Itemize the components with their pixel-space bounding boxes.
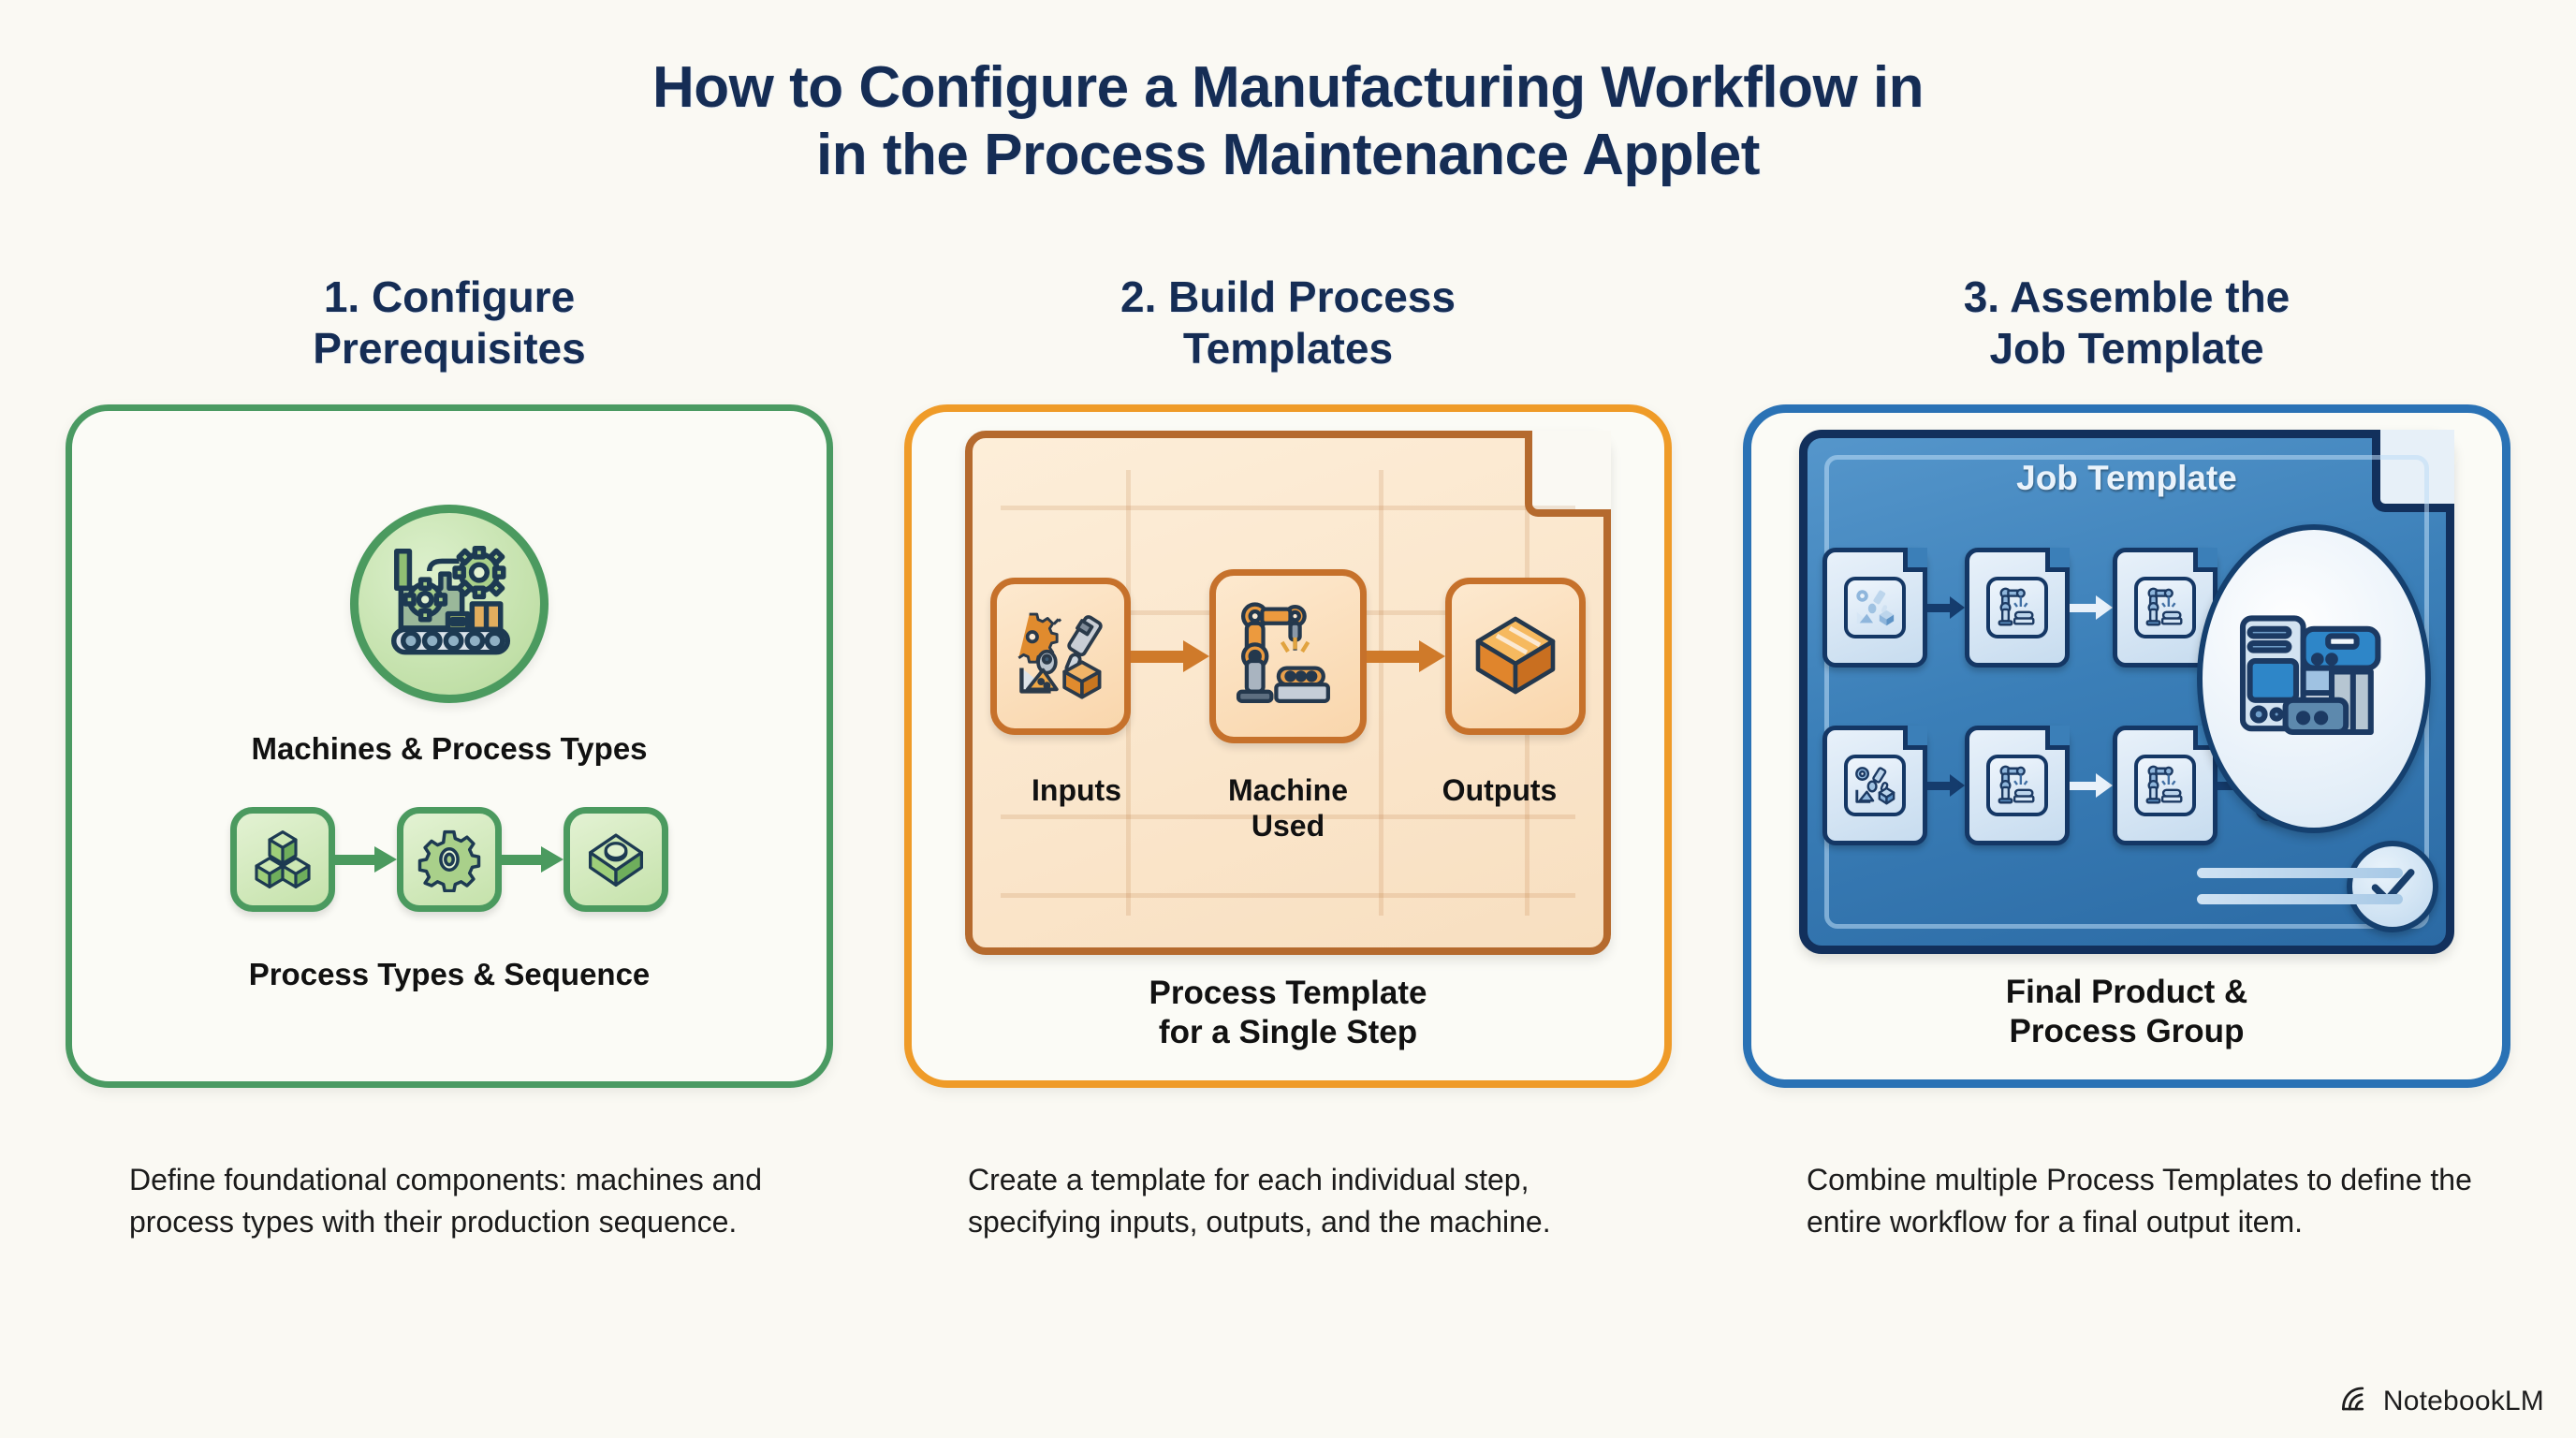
label-outputs: Outputs (1406, 773, 1593, 809)
column-1-heading: 1. ConfigurePrerequisites (313, 271, 585, 376)
label-inputs: Inputs (983, 773, 1170, 809)
column-1-label-top: Machines & Process Types (251, 731, 647, 768)
job-template-panel: Job Template (1799, 430, 2454, 954)
process-template-card (1822, 726, 1927, 845)
title-line-2: in the Process Maintenance Applet (0, 122, 2576, 189)
arrow-right-icon (502, 849, 563, 870)
arrow-right-icon (335, 849, 397, 870)
process-template-card (2113, 726, 2217, 845)
arrow-right-icon (1131, 645, 1209, 668)
robot-arm-icon (1986, 577, 2048, 638)
document-sheet-icon: Inputs MachineUsed Outputs (965, 431, 1611, 955)
arrow-right-icon (1927, 600, 1965, 615)
factory-conveyor-icon (350, 505, 549, 703)
column-build-process-templates: 2. Build ProcessTemplates (904, 271, 1672, 1088)
output-block-icon (1445, 578, 1586, 735)
column-3-caption: Final Product &Process Group (2006, 973, 2248, 1051)
column-assemble-job-template: 3. Assemble theJob Template Job Template (1743, 271, 2510, 1088)
arrow-right-icon (1927, 778, 1965, 793)
column-1-label-bottom: Process Types & Sequence (249, 957, 651, 993)
notebooklm-logo-icon (2340, 1385, 2372, 1417)
column-3-panel: Job Template (1743, 404, 2510, 1088)
descriptions-row: Define foundational components: machines… (66, 1159, 2510, 1244)
infographic-root: How to Configure a Manufacturing Workflo… (0, 0, 2576, 1438)
detail-bar (2197, 894, 2403, 904)
column-1-panel: Machines & Process Types (66, 404, 833, 1088)
materials-tools-icon (1844, 577, 1906, 638)
process-template-card (1822, 548, 1927, 668)
label-machine-used: MachineUsed (1170, 773, 1406, 844)
description-1: Define foundational components: machines… (66, 1159, 833, 1244)
column-2-heading: 2. Build ProcessTemplates (1120, 271, 1456, 376)
page-title: How to Configure a Manufacturing Workflo… (0, 54, 2576, 189)
job-template-title: Job Template (1808, 459, 2446, 498)
materials-tools-icon (990, 578, 1131, 735)
arrow-right-icon (2070, 600, 2113, 615)
column-2-caption: Process Templatefor a Single Step (1149, 974, 1427, 1052)
robot-arm-icon (1986, 755, 2048, 816)
arrow-right-icon (2070, 778, 2113, 793)
column-3-heading: 3. Assemble theJob Template (1964, 271, 2291, 376)
watermark-text: NotebookLM (2383, 1386, 2544, 1417)
gear-icon (397, 807, 502, 912)
check-icon (2347, 841, 2438, 932)
flow-labels: Inputs MachineUsed Outputs (973, 773, 1603, 844)
column-2-panel: Inputs MachineUsed Outputs Process Templ… (904, 404, 1672, 1088)
process-template-card (1965, 726, 2070, 845)
detail-bar (2197, 868, 2403, 878)
process-template-card (1965, 548, 2070, 668)
description-3: Combine multiple Process Templates to de… (1743, 1159, 2510, 1244)
title-line-1: How to Configure a Manufacturing Workflo… (0, 54, 2576, 122)
description-2: Create a template for each individual st… (904, 1159, 1672, 1244)
robot-arm-icon (2134, 577, 2196, 638)
robot-arm-icon (1209, 569, 1367, 743)
machined-part-icon (563, 807, 668, 912)
column-configure-prerequisites: 1. ConfigurePrerequisites (66, 271, 833, 1088)
cubes-icon (230, 807, 335, 912)
process-step-flow (973, 569, 1603, 743)
finished-machine-icon (2197, 524, 2431, 833)
columns-container: 1. ConfigurePrerequisites (66, 271, 2510, 1088)
robot-arm-icon (2134, 755, 2196, 816)
watermark: NotebookLM (2340, 1385, 2544, 1417)
materials-tools-icon (1844, 755, 1906, 816)
process-type-chain (230, 807, 668, 912)
arrow-right-icon (1367, 645, 1445, 668)
